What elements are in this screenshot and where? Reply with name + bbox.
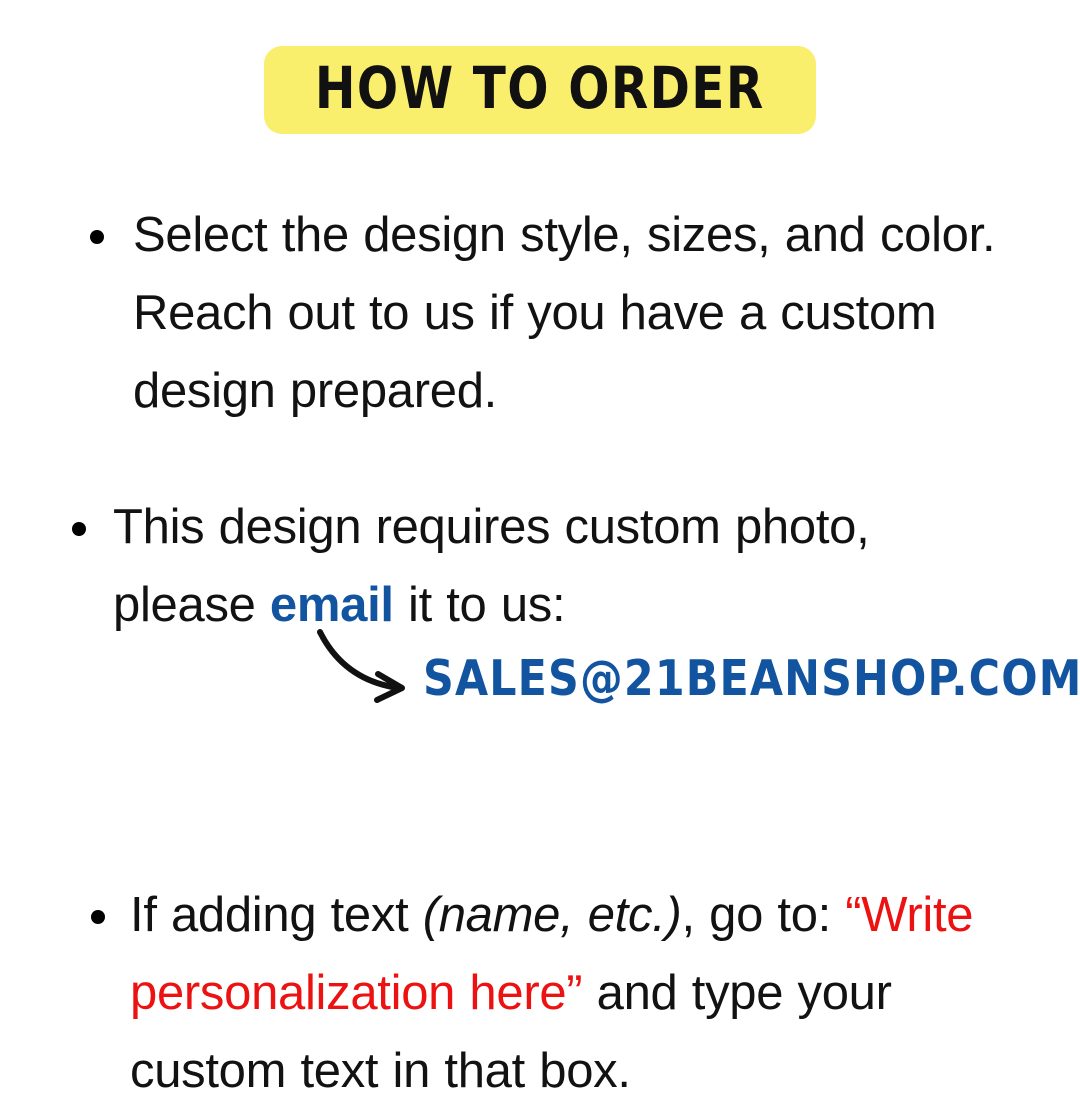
bullet-dot-icon <box>90 230 104 244</box>
header-container: HOW TO ORDER <box>0 46 1080 134</box>
list-item: Select the design style, sizes, and colo… <box>0 196 1080 430</box>
header-pill: HOW TO ORDER <box>264 46 816 134</box>
list-item-text: Select the design style, sizes, and colo… <box>133 196 1023 430</box>
list-item-text: If adding text (name, etc.), go to: “Wri… <box>130 876 1035 1110</box>
instruction-3-italic-note: (name, etc.) <box>423 888 682 942</box>
email-callout: SALES@21BEANSHOP.COM <box>0 624 1080 729</box>
how-to-order-graphic: HOW TO ORDER Select the design style, si… <box>0 0 1080 1080</box>
email-address[interactable]: SALES@21BEANSHOP.COM <box>423 652 1080 706</box>
instruction-3-text-mid: , go to: <box>682 888 846 942</box>
bullet-dot-icon <box>91 910 105 924</box>
instruction-3-text-lead: If adding text <box>130 888 423 942</box>
list-item: If adding text (name, etc.), go to: “Wri… <box>0 876 1080 1110</box>
bullet-dot-icon <box>72 522 86 536</box>
list-item-text: This design requires custom photo, pleas… <box>113 488 1018 644</box>
instruction-1-text: Select the design style, sizes, and colo… <box>133 208 995 418</box>
page-title: HOW TO ORDER <box>315 56 765 120</box>
curved-arrow-icon <box>312 624 420 720</box>
list-item: This design requires custom photo, pleas… <box>0 488 1080 644</box>
